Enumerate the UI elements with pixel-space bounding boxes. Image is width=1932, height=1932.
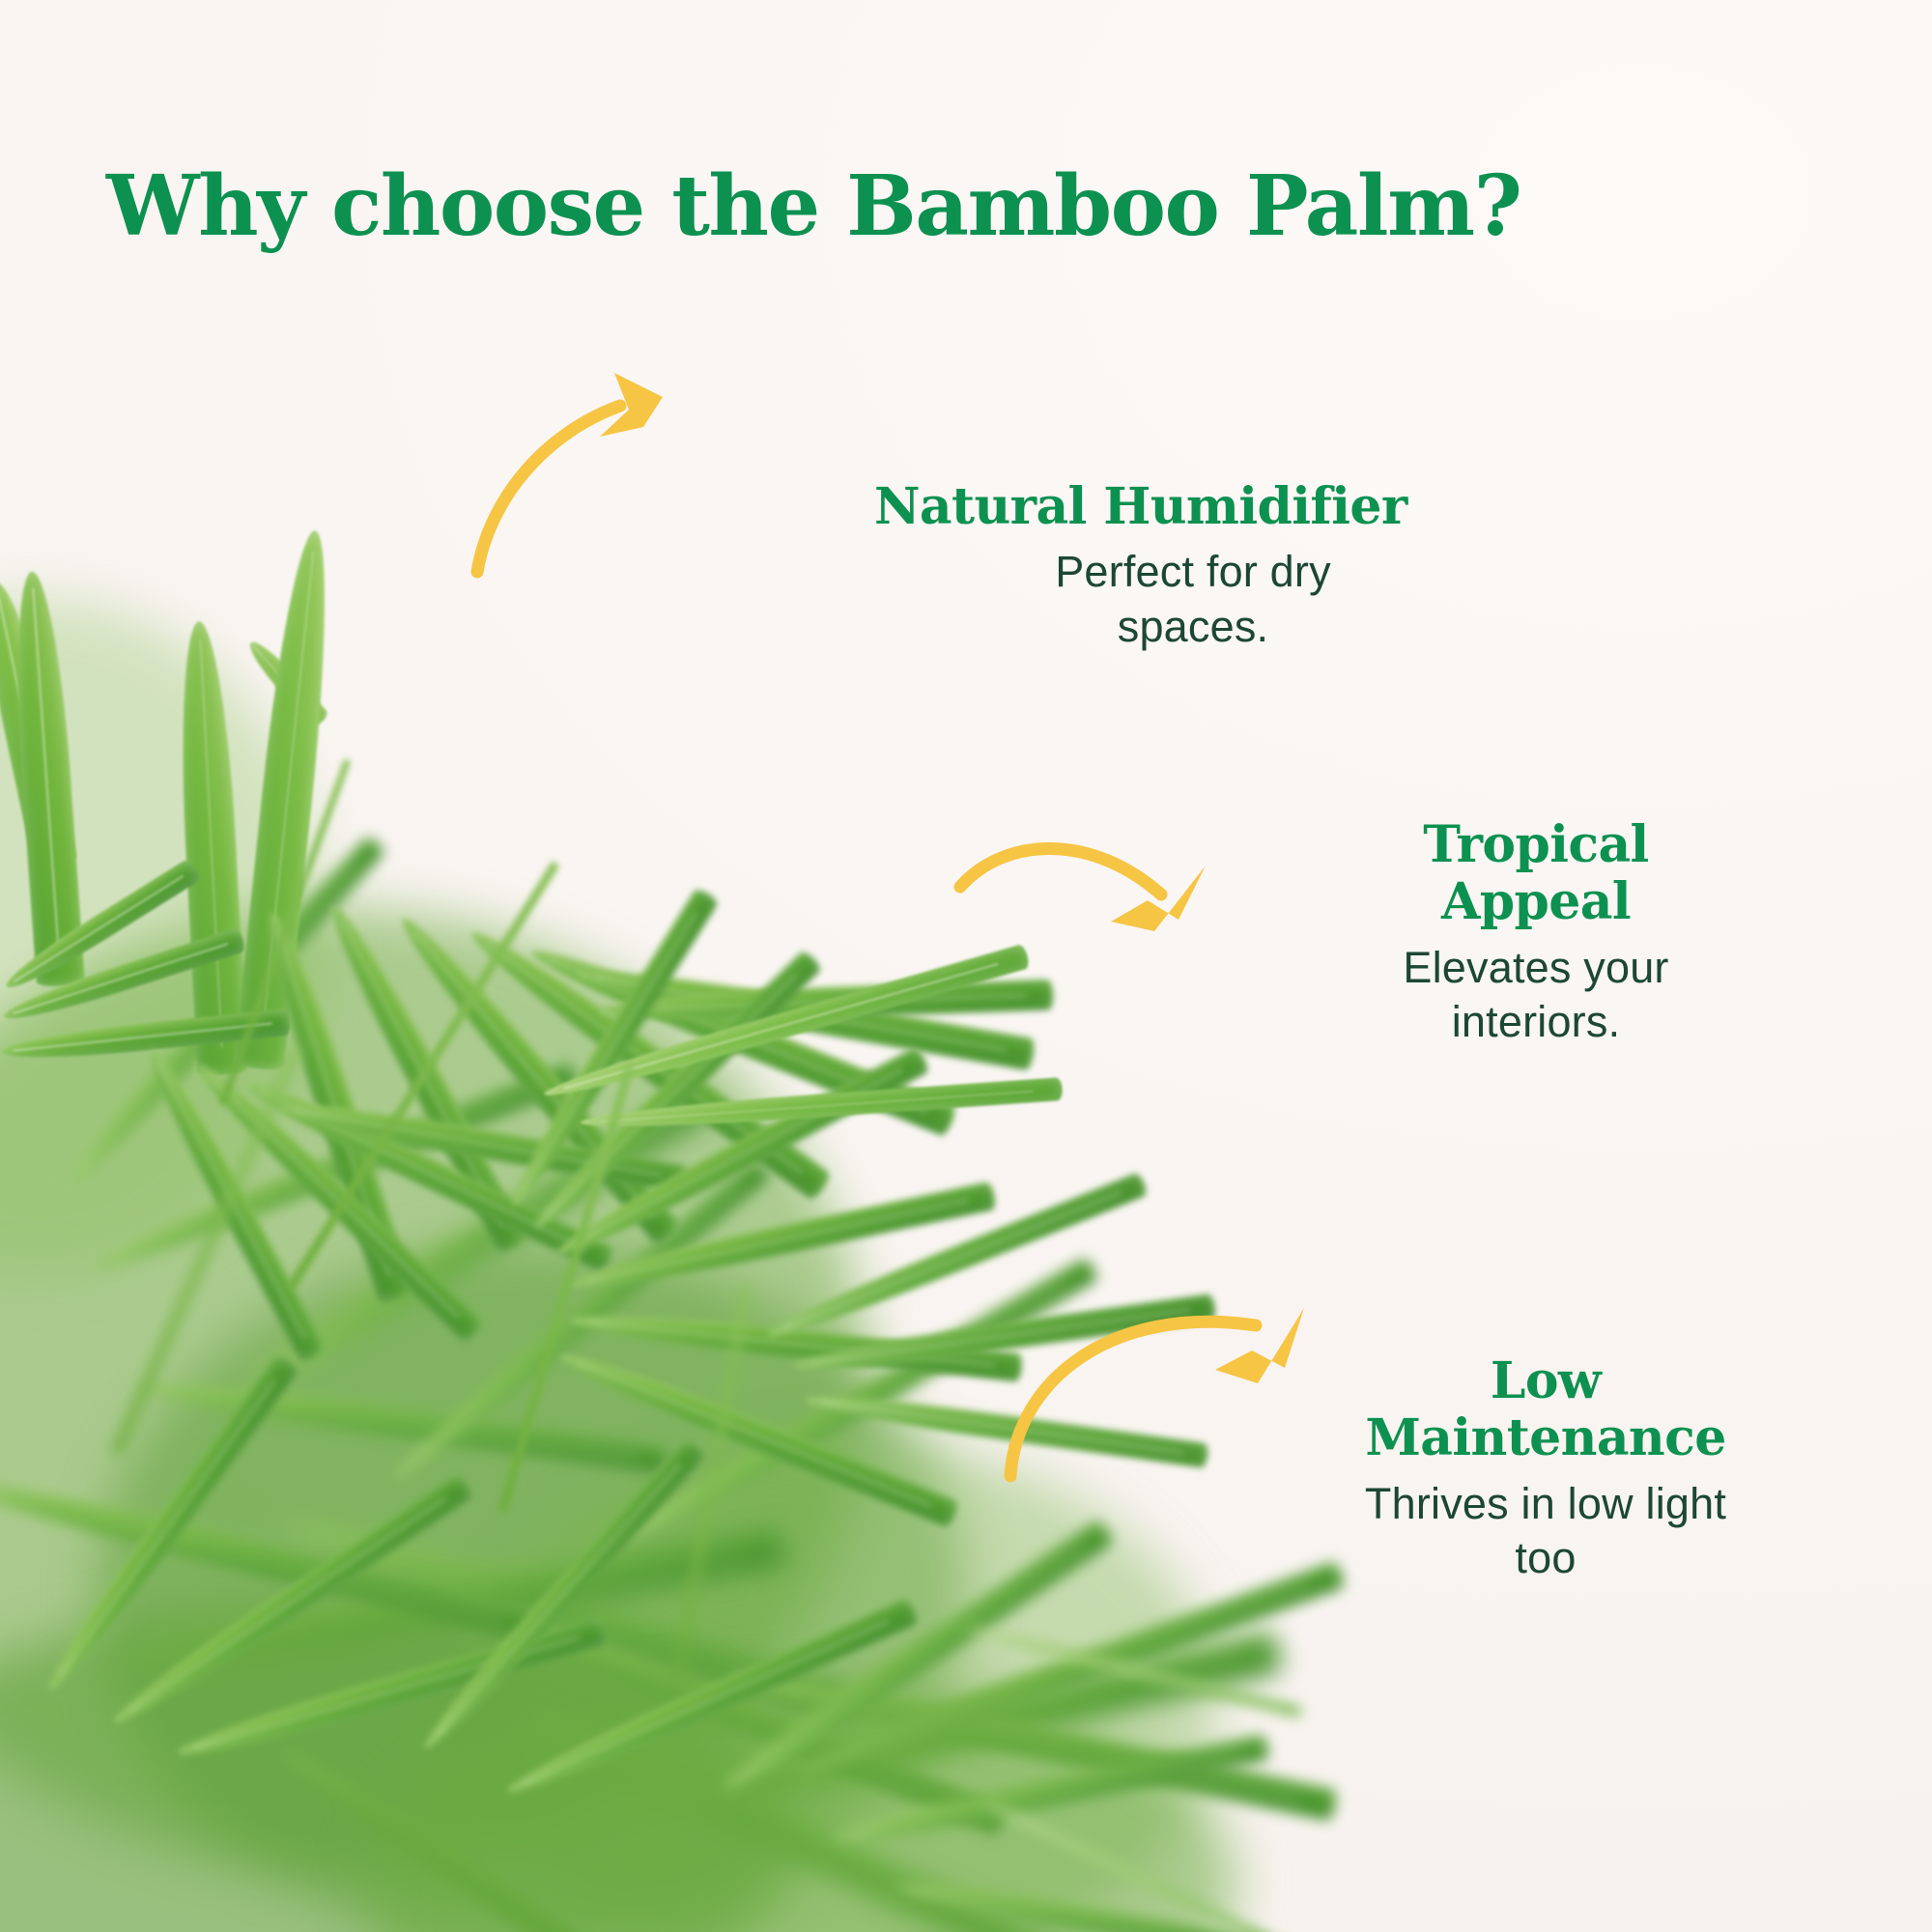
feature-natural-humidifier: Natural Humidifier Perfect for dry space…: [874, 478, 1502, 655]
feature-body: Perfect for dry spaces.: [1009, 545, 1377, 654]
page-title: Why choose the Bamboo Palm?: [106, 162, 1439, 250]
feature-heading: Low Maintenance: [1343, 1352, 1748, 1467]
feature-body: Elevates your interiors.: [1343, 941, 1729, 1050]
feature-tropical-appeal: Tropical Appeal Elevates your interiors.: [1343, 816, 1729, 1050]
poster-canvas: Why choose the Bamboo Palm? Natural Humi…: [0, 0, 1932, 1932]
feature-body: Thrives in low light too: [1343, 1477, 1748, 1586]
feature-low-maintenance: Low Maintenance Thrives in low light too: [1343, 1352, 1748, 1586]
feature-heading: Tropical Appeal: [1343, 816, 1729, 931]
feature-heading: Natural Humidifier: [874, 478, 1502, 535]
